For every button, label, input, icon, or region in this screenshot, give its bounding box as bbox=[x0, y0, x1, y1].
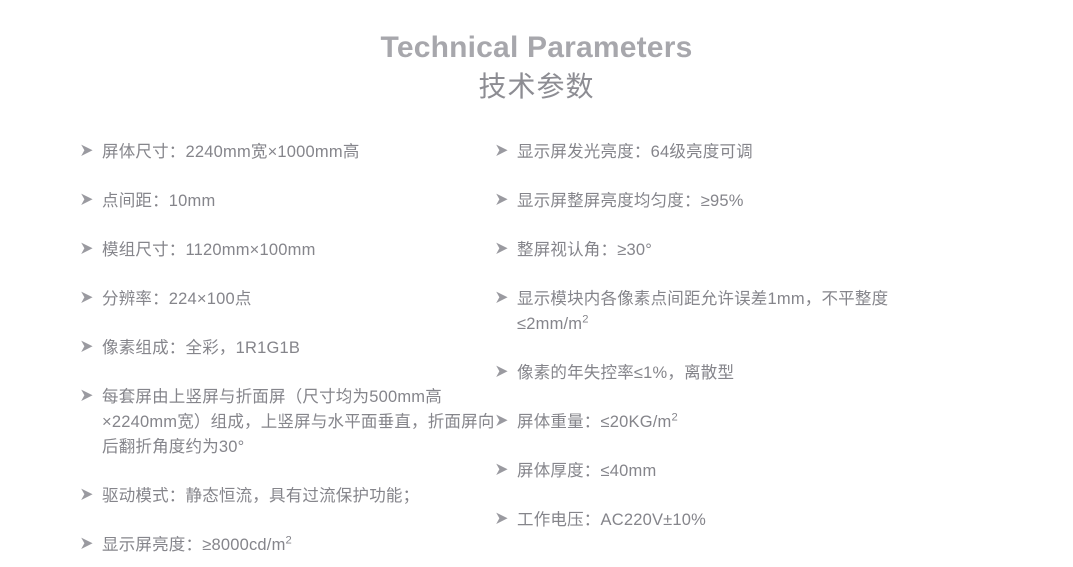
spec-item-text: 屏体厚度：≤40mm bbox=[517, 459, 929, 484]
spec-item-superscript: 2 bbox=[671, 412, 677, 424]
technical-parameters-page: Technical Parameters 技术参数 屏体尺寸：2240mm宽×1… bbox=[0, 0, 1073, 567]
arrowhead-right-icon bbox=[80, 389, 102, 402]
spec-columns: 屏体尺寸：2240mm宽×1000mm高点间距：10mm模组尺寸：1120mm×… bbox=[0, 140, 1073, 567]
spec-item-text-main: 显示屏亮度：≥8000cd/m bbox=[102, 536, 286, 554]
arrowhead-right-icon bbox=[80, 144, 102, 157]
spec-item-text: 整屏视认角：≥30° bbox=[517, 238, 929, 263]
page-title-english: Technical Parameters bbox=[0, 30, 1073, 66]
spec-item-text: 驱动模式：静态恒流，具有过流保护功能； bbox=[102, 484, 495, 509]
spec-item: 分辨率：224×100点 bbox=[80, 287, 495, 312]
spec-item-text: 点间距：10mm bbox=[102, 189, 495, 214]
arrowhead-right-icon bbox=[80, 242, 102, 255]
arrowhead-right-icon bbox=[80, 537, 102, 550]
page-title-chinese: 技术参数 bbox=[0, 68, 1073, 106]
page-heading: Technical Parameters 技术参数 bbox=[0, 0, 1073, 106]
spec-item-text: 分辨率：224×100点 bbox=[102, 287, 495, 312]
spec-item: 屏体重量：≤20KG/m2 bbox=[495, 410, 1073, 435]
spec-item: 模组尺寸：1120mm×100mm bbox=[80, 238, 495, 263]
spec-item-text: 屏体重量：≤20KG/m2 bbox=[517, 410, 929, 435]
spec-item: 工作电压：AC220V±10% bbox=[495, 508, 1073, 533]
arrowhead-right-icon bbox=[495, 193, 517, 206]
spec-item-text: 显示屏整屏亮度均匀度：≥95% bbox=[517, 189, 929, 214]
arrowhead-right-icon bbox=[80, 193, 102, 206]
spec-column-right: 显示屏发光亮度：64级亮度可调显示屏整屏亮度均匀度：≥95%整屏视认角：≥30°… bbox=[495, 140, 1073, 557]
spec-item: 整屏视认角：≥30° bbox=[495, 238, 1073, 263]
spec-column-left: 屏体尺寸：2240mm宽×1000mm高点间距：10mm模组尺寸：1120mm×… bbox=[0, 140, 495, 567]
spec-item-superscript: 2 bbox=[286, 535, 292, 547]
arrowhead-right-icon bbox=[495, 365, 517, 378]
spec-item: 显示模块内各像素点间距允许误差1mm，不平整度≤2mm/m2 bbox=[495, 287, 1073, 337]
spec-item: 像素组成：全彩，1R1G1B bbox=[80, 336, 495, 361]
spec-item: 显示屏发光亮度：64级亮度可调 bbox=[495, 140, 1073, 165]
spec-item-text: 模组尺寸：1120mm×100mm bbox=[102, 238, 495, 263]
spec-item: 每套屏由上竖屏与折面屏（尺寸均为500mm高×2240mm宽）组成，上竖屏与水平… bbox=[80, 385, 495, 460]
arrowhead-right-icon bbox=[495, 463, 517, 476]
spec-item: 点间距：10mm bbox=[80, 189, 495, 214]
spec-item: 屏体厚度：≤40mm bbox=[495, 459, 1073, 484]
spec-item-text: 工作电压：AC220V±10% bbox=[517, 508, 929, 533]
spec-item: 显示屏整屏亮度均匀度：≥95% bbox=[495, 189, 1073, 214]
spec-item-text: 像素的年失控率≤1%，离散型 bbox=[517, 361, 929, 386]
spec-item-text: 显示模块内各像素点间距允许误差1mm，不平整度≤2mm/m2 bbox=[517, 287, 929, 337]
arrowhead-right-icon bbox=[495, 144, 517, 157]
arrowhead-right-icon bbox=[495, 291, 517, 304]
spec-item-text: 显示屏发光亮度：64级亮度可调 bbox=[517, 140, 929, 165]
arrowhead-right-icon bbox=[495, 242, 517, 255]
spec-item-text-main: 显示模块内各像素点间距允许误差1mm，不平整度≤2mm/m bbox=[517, 290, 888, 333]
spec-item: 显示屏亮度：≥8000cd/m2 bbox=[80, 533, 495, 558]
spec-item-superscript: 2 bbox=[582, 314, 588, 326]
spec-item: 屏体尺寸：2240mm宽×1000mm高 bbox=[80, 140, 495, 165]
arrowhead-right-icon bbox=[495, 512, 517, 525]
spec-item: 驱动模式：静态恒流，具有过流保护功能； bbox=[80, 484, 495, 509]
arrowhead-right-icon bbox=[80, 488, 102, 501]
spec-item-text-main: 屏体重量：≤20KG/m bbox=[517, 413, 671, 431]
arrowhead-right-icon bbox=[80, 291, 102, 304]
spec-item-text: 每套屏由上竖屏与折面屏（尺寸均为500mm高×2240mm宽）组成，上竖屏与水平… bbox=[102, 385, 495, 460]
spec-item-text: 像素组成：全彩，1R1G1B bbox=[102, 336, 495, 361]
spec-item-text: 屏体尺寸：2240mm宽×1000mm高 bbox=[102, 140, 495, 165]
spec-item: 像素的年失控率≤1%，离散型 bbox=[495, 361, 1073, 386]
spec-item-text: 显示屏亮度：≥8000cd/m2 bbox=[102, 533, 495, 558]
arrowhead-right-icon bbox=[80, 340, 102, 353]
arrowhead-right-icon bbox=[495, 414, 517, 427]
